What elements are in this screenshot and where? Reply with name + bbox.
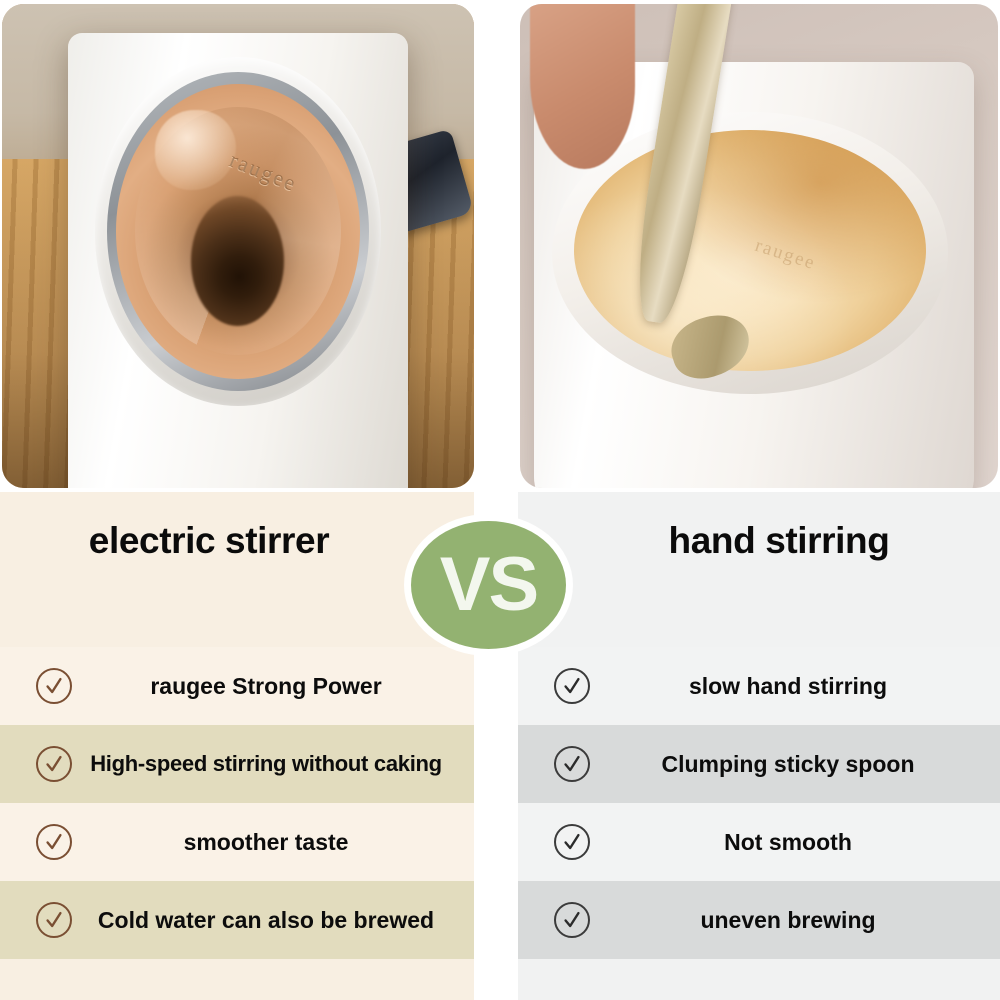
check-circle-icon [36, 902, 72, 938]
photo-row: raugee raugee [0, 0, 1000, 492]
electric-mug-body: raugee [68, 33, 408, 488]
list-item-label: Clumping sticky spoon [590, 751, 1000, 778]
list-item-label: Cold water can also be brewed [72, 907, 474, 934]
left-panel-title: electric stirrer [0, 520, 474, 562]
coffee-surface-right [574, 130, 926, 371]
check-circle-icon [36, 746, 72, 782]
list-item[interactable]: slow hand stirring [518, 647, 1000, 725]
hand-stirring-panel: hand stirring slow hand stirring Clumpin… [518, 492, 1000, 1000]
list-item[interactable]: Not smooth [518, 803, 1000, 881]
vs-label: VS [440, 547, 537, 623]
right-panel-title: hand stirring [518, 520, 1000, 562]
check-circle-icon [554, 668, 590, 704]
vortex-funnel [191, 196, 284, 326]
list-item-label: Not smooth [590, 829, 1000, 856]
check-circle-icon [554, 902, 590, 938]
panel-divider [474, 984, 518, 1000]
list-item-label: uneven brewing [590, 907, 1000, 934]
right-feature-list: slow hand stirring Clumping sticky spoon… [518, 647, 1000, 959]
list-item[interactable]: Clumping sticky spoon [518, 725, 1000, 803]
electric-stirrer-photo: raugee [2, 4, 474, 488]
list-item-label: smoother taste [72, 829, 474, 856]
list-item[interactable]: uneven brewing [518, 881, 1000, 959]
check-circle-icon [554, 746, 590, 782]
list-item-label: High-speed stirring without caking [72, 751, 474, 777]
electric-stirrer-panel: electric stirrer raugee Strong Power Hig… [0, 492, 474, 1000]
list-item[interactable]: smoother taste [0, 803, 474, 881]
comparison-infographic: raugee raugee electric stirrer [0, 0, 1000, 1000]
list-item[interactable]: raugee Strong Power [0, 647, 474, 725]
list-item-label: slow hand stirring [590, 673, 1000, 700]
check-circle-icon [554, 824, 590, 860]
list-item-label: raugee Strong Power [72, 673, 474, 700]
vs-badge: VS [411, 521, 566, 649]
coffee-surface [116, 84, 361, 379]
list-item[interactable]: High-speed stirring without caking [0, 725, 474, 803]
check-circle-icon [36, 668, 72, 704]
hand-stirring-photo: raugee [520, 4, 998, 488]
left-feature-list: raugee Strong Power High-speed stirring … [0, 647, 474, 959]
list-item[interactable]: Cold water can also be brewed [0, 881, 474, 959]
check-circle-icon [36, 824, 72, 860]
